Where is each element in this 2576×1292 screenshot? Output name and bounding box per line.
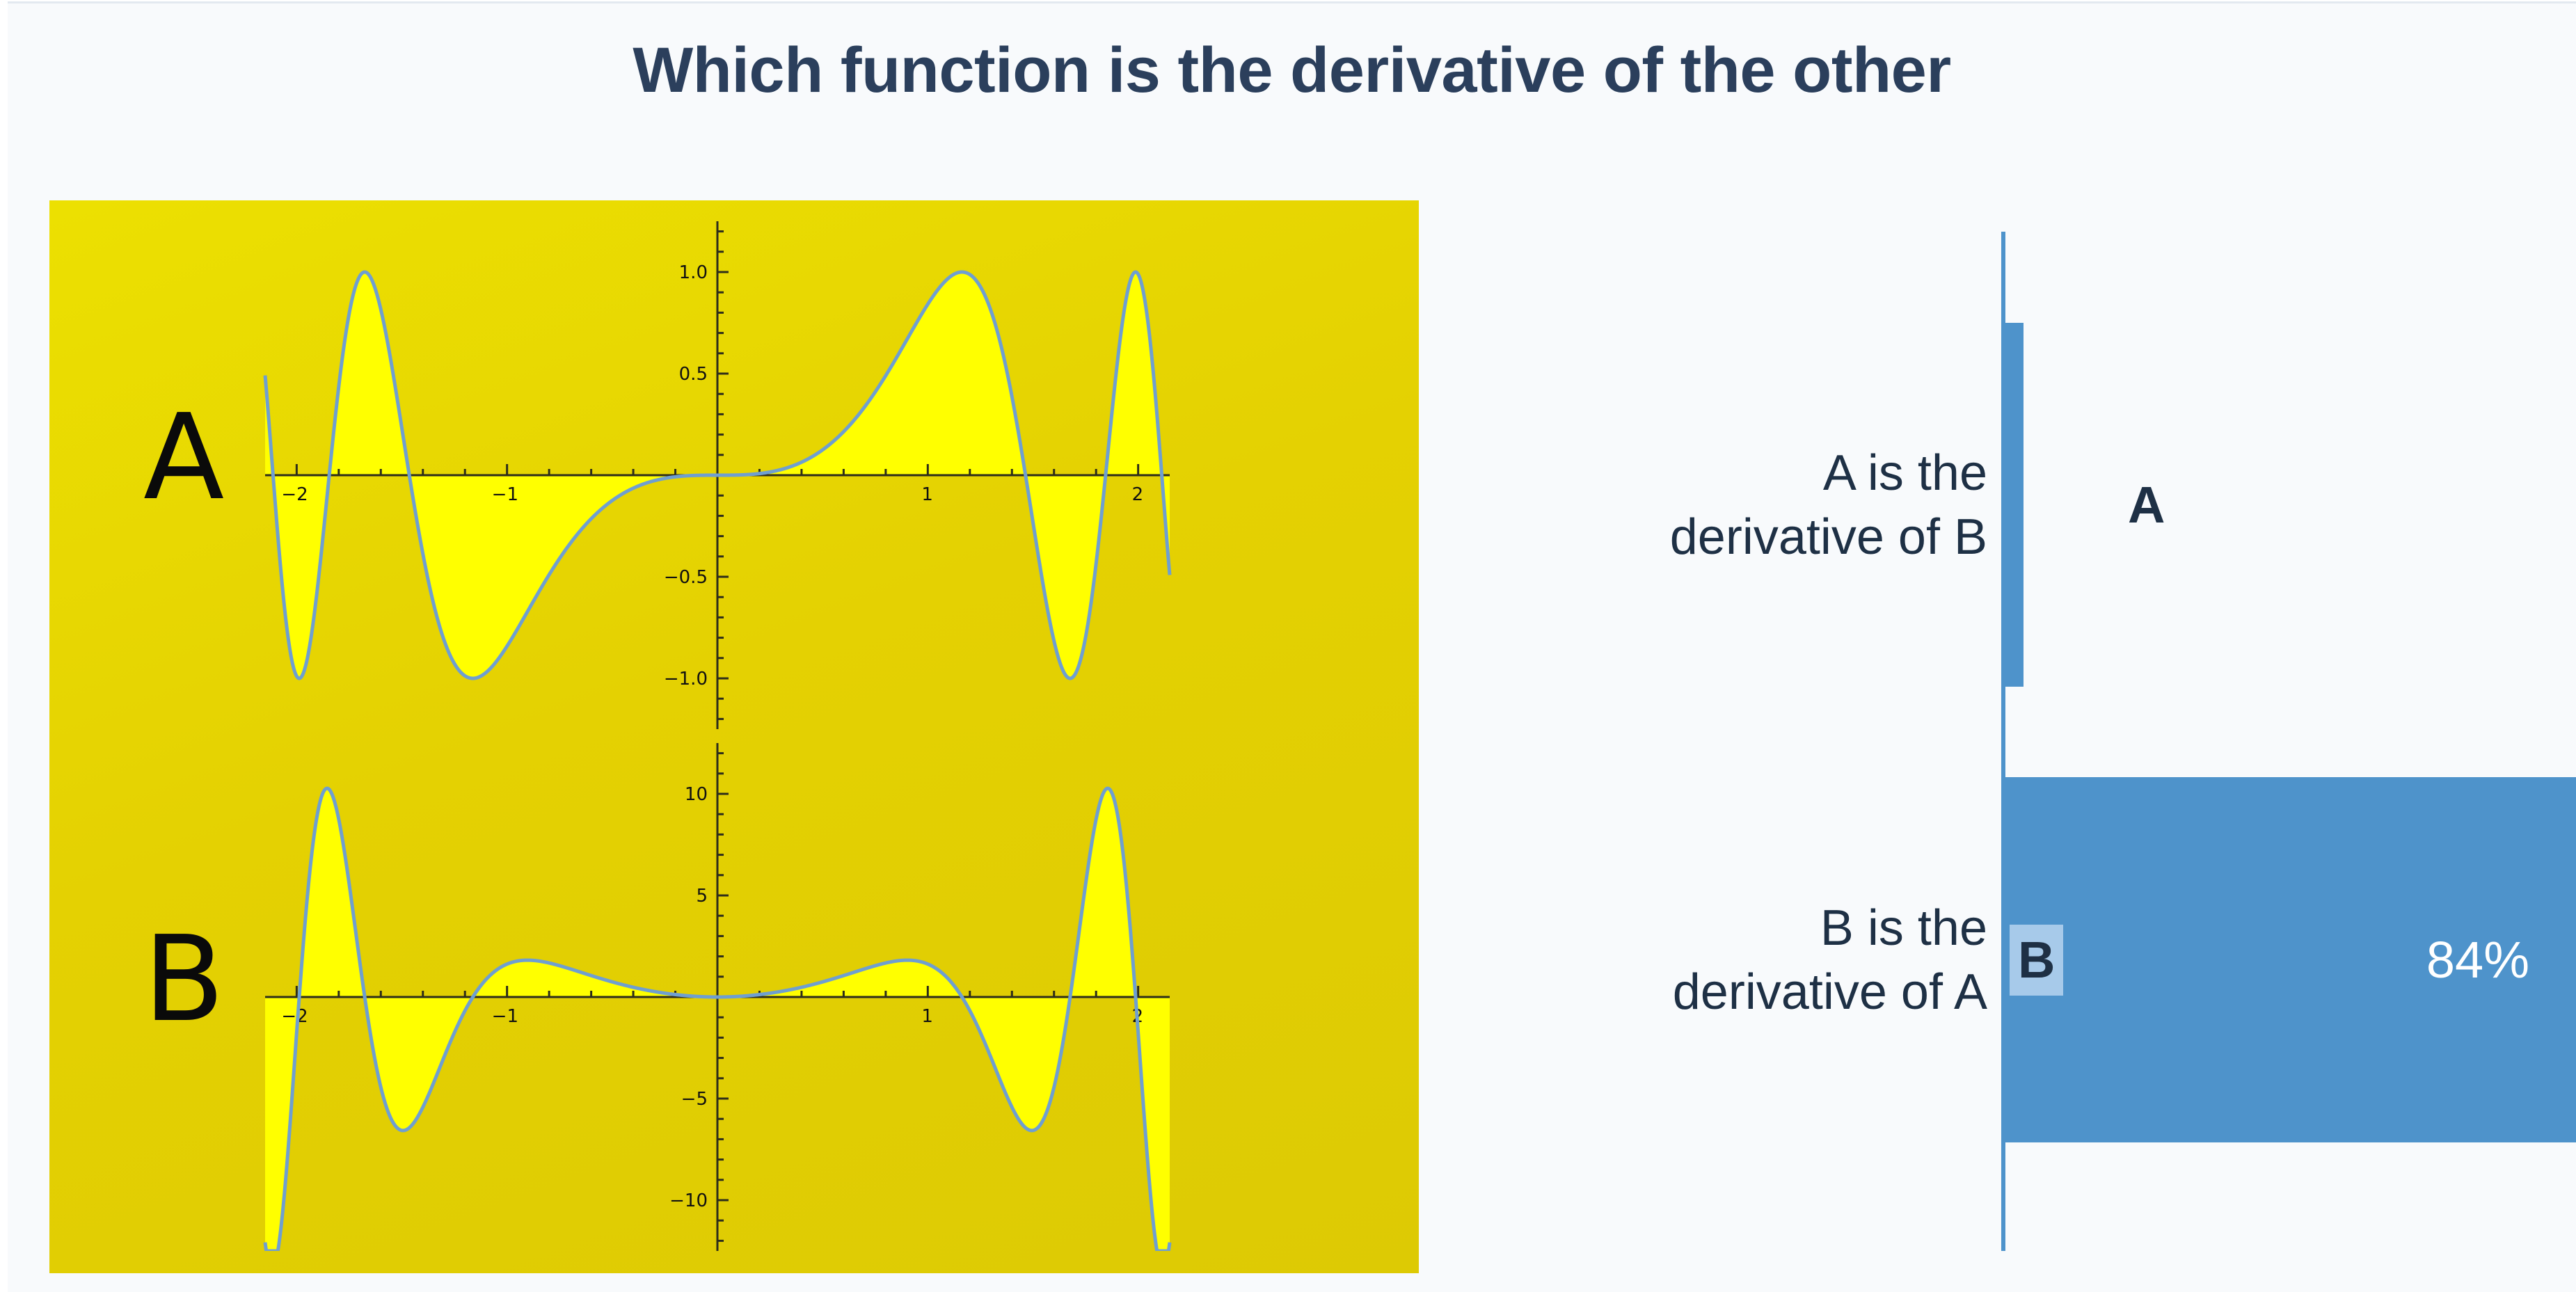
poll-slide: Which function is the derivative of the …: [8, 1, 2576, 1292]
svg-text:−2: −2: [281, 484, 308, 505]
plot-b: B −2−112105−5−10: [49, 743, 1419, 1251]
svg-text:5: 5: [696, 886, 708, 907]
option-a-key: A: [2120, 470, 2173, 541]
option-b-label: B is the derivative of A: [1673, 895, 1987, 1023]
plot-a-letter: A: [143, 399, 224, 517]
svg-text:−0.5: −0.5: [664, 567, 708, 588]
plot-a: A −2−1121.00.5−0.5−1.0: [49, 221, 1419, 729]
page-title: Which function is the derivative of the …: [8, 37, 2576, 104]
plot-a-svg: −2−1121.00.5−0.5−1.0: [258, 221, 1177, 729]
svg-text:2: 2: [1132, 484, 1144, 505]
svg-text:−10: −10: [669, 1190, 708, 1211]
svg-text:−1: −1: [492, 1006, 518, 1027]
results-panel: A is the derivative of B A B is the deri…: [1441, 200, 2554, 1273]
svg-text:0.5: 0.5: [679, 364, 708, 385]
option-b-percent: 84%: [2426, 934, 2529, 986]
svg-text:1.0: 1.0: [679, 262, 708, 283]
result-row-a[interactable]: A is the derivative of B A: [1441, 323, 2554, 687]
result-row-b[interactable]: B is the derivative of A B 84%: [1441, 777, 2554, 1142]
plot-b-letter: B: [143, 920, 225, 1039]
plot-b-svg: −2−112105−5−10: [258, 743, 1177, 1251]
option-a-label: A is the derivative of B: [1670, 440, 1987, 568]
svg-text:−1: −1: [492, 484, 518, 505]
svg-text:−5: −5: [681, 1089, 708, 1110]
svg-text:1: 1: [921, 484, 933, 505]
option-a-bar: [2001, 323, 2024, 687]
option-b-key: B: [2010, 925, 2063, 996]
svg-text:1: 1: [921, 1006, 933, 1027]
svg-text:10: 10: [685, 784, 708, 805]
svg-text:−1.0: −1.0: [664, 669, 708, 689]
question-image: A −2−1121.00.5−0.5−1.0 B −2−11210: [49, 200, 1419, 1273]
svg-text:−2: −2: [281, 1006, 308, 1027]
